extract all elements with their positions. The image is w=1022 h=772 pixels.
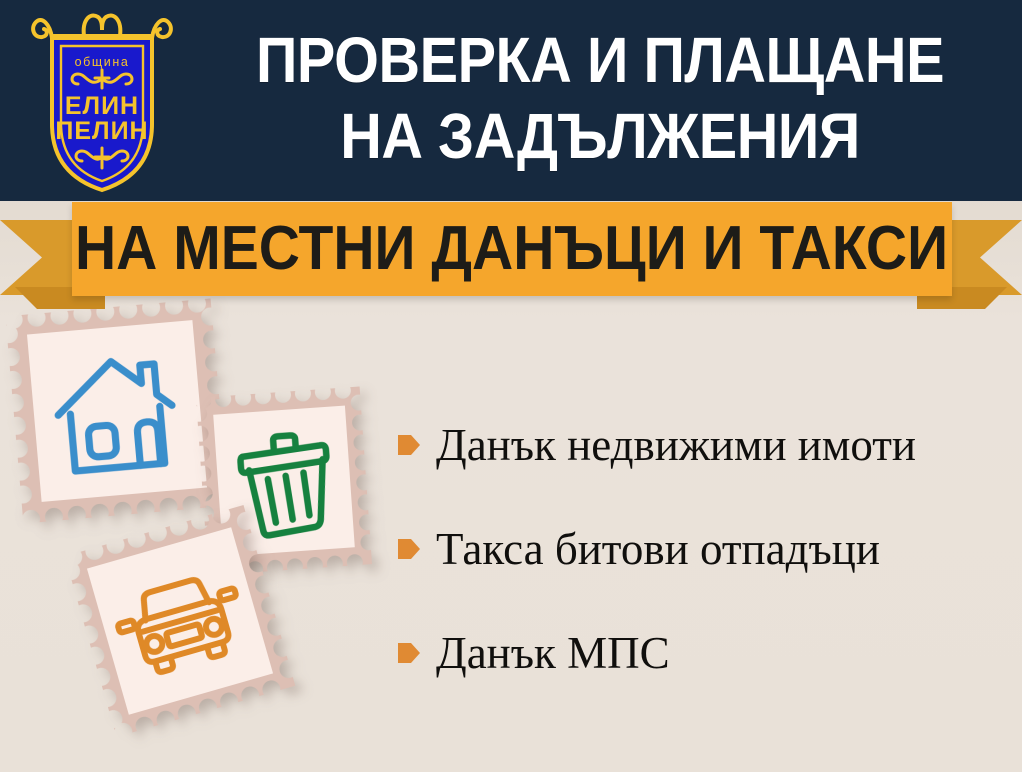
svg-text:ЕЛИН: ЕЛИН [65, 92, 139, 120]
header-bar: община ЕЛИН ПЕЛИН ПРОВЕРКА И ПЛ [0, 0, 1022, 201]
arrow-right-bullet-icon [398, 536, 420, 562]
arrow-right-bullet-icon [398, 432, 420, 458]
list-item[interactable]: Данък недвижими имоти [398, 420, 1012, 470]
arrow-right-bullet-icon [398, 640, 420, 666]
list-item-label: Данък недвижими имоти [436, 420, 916, 470]
svg-text:община: община [75, 55, 130, 69]
stamp-group [0, 300, 420, 772]
list-item[interactable]: Такса битови отпадъци [398, 524, 1012, 574]
elin-pelin-coat-of-arms-icon: община ЕЛИН ПЕЛИН [22, 6, 182, 196]
poster-root: община ЕЛИН ПЕЛИН ПРОВЕРКА И ПЛ [0, 0, 1022, 772]
ribbon-subtitle: НА МЕСТНИ ДАНЪЦИ И ТАКСИ [75, 218, 948, 280]
page-title: ПРОВЕРКА И ПЛАЩАНЕ НА ЗАДЪЛЖЕНИЯ [231, 22, 969, 174]
page-title-line-2: НА ЗАДЪЛЖЕНИЯ [231, 98, 969, 174]
ribbon-band: НА МЕСТНИ ДАНЪЦИ И ТАКСИ [72, 202, 952, 296]
svg-text:ПЕЛИН: ПЕЛИН [55, 117, 148, 145]
page-title-line-1: ПРОВЕРКА И ПЛАЩАНЕ [231, 22, 969, 98]
list-item-label: Такса битови отпадъци [436, 524, 880, 574]
ribbon-banner: НА МЕСТНИ ДАНЪЦИ И ТАКСИ [0, 199, 1022, 314]
list-item-label: Данък МПС [436, 628, 670, 678]
list-item[interactable]: Данък МПС [398, 628, 1012, 678]
tax-types-list: Данък недвижими имоти Такса битови отпад… [398, 420, 1012, 678]
